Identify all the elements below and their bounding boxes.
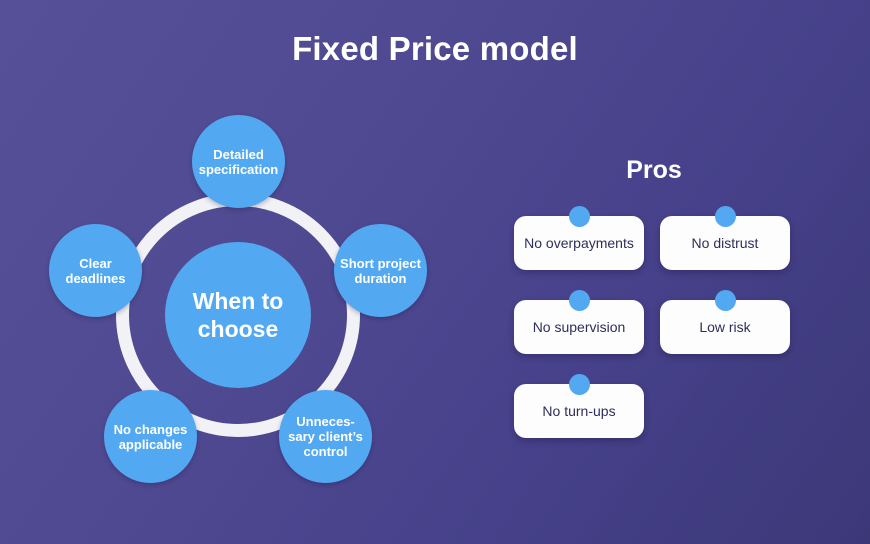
slide-canvas: Fixed Price model Detailed specification…: [0, 0, 870, 544]
cycle-node-unnecessary-client-control[interactable]: Unneces-sary client’s control: [279, 390, 372, 483]
cycle-node-clear-deadlines[interactable]: Clear deadlines: [49, 224, 142, 317]
pro-card-label: Low risk: [666, 319, 784, 336]
pro-card-label: No turn-ups: [520, 403, 638, 420]
pro-card-label: No distrust: [666, 235, 784, 252]
cycle-center-label: When to choose: [171, 287, 305, 343]
cycle-center-node[interactable]: When to choose: [165, 242, 311, 388]
cycle-node-short-project-duration[interactable]: Short project duration: [334, 224, 427, 317]
pros-heading: Pros: [568, 155, 740, 185]
page-title: Fixed Price model: [0, 28, 870, 70]
pro-card-label: No supervision: [520, 319, 638, 336]
bullet-dot-icon: [569, 206, 590, 227]
cycle-node-label: No changes applicable: [108, 422, 193, 452]
bullet-dot-icon: [569, 290, 590, 311]
pro-card-label: No overpayments: [520, 235, 638, 252]
cycle-node-detailed-specification[interactable]: Detailed specification: [192, 115, 285, 208]
bullet-dot-icon: [715, 290, 736, 311]
cycle-node-label: Detailed specification: [196, 147, 281, 177]
pros-card-grid: No overpayments No distrust No supervisi…: [514, 216, 804, 456]
cycle-node-label: Short project duration: [338, 256, 423, 286]
cycle-node-label: Clear deadlines: [53, 256, 138, 286]
cycle-node-no-changes-applicable[interactable]: No changes applicable: [104, 390, 197, 483]
cycle-node-label: Unneces-sary client’s control: [283, 414, 368, 459]
bullet-dot-icon: [569, 374, 590, 395]
bullet-dot-icon: [715, 206, 736, 227]
